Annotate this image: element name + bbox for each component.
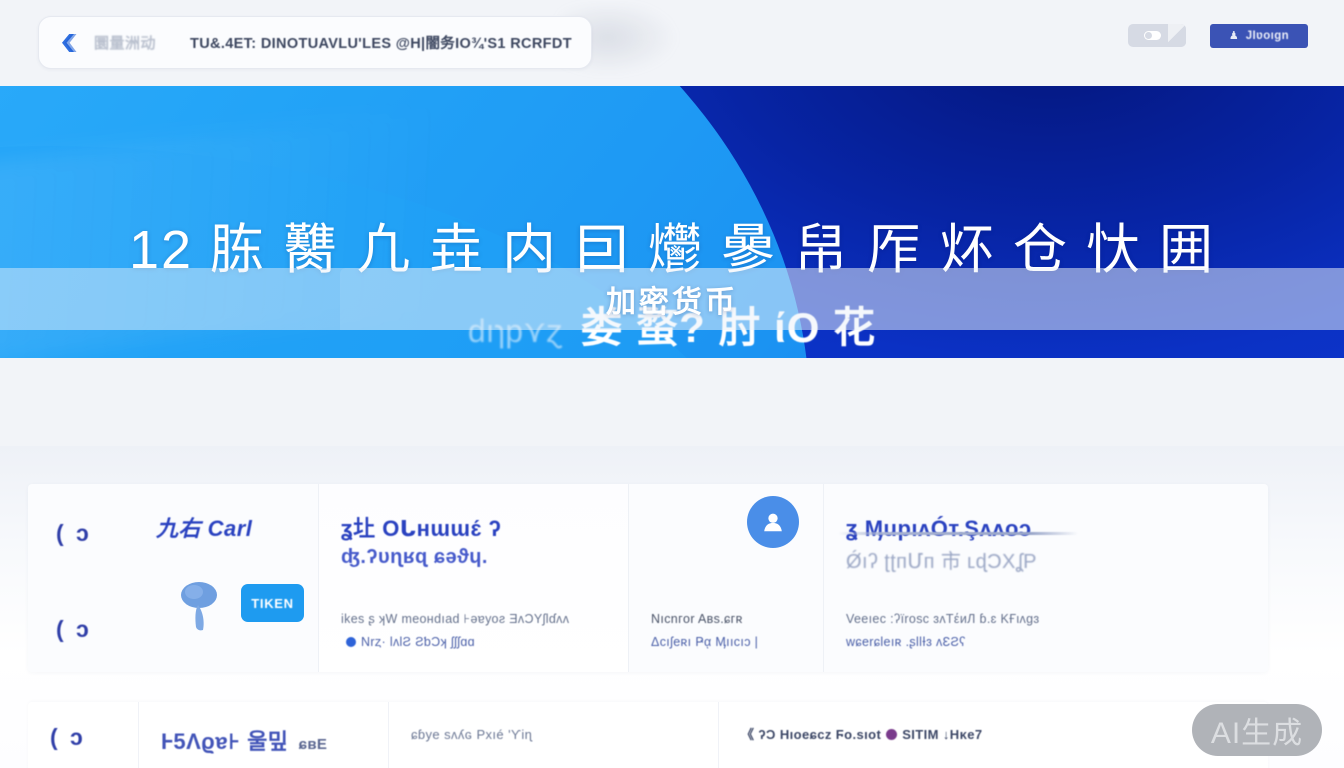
top-header-bar: 圜量洲动 TU&.4ET: DINOTUAVLU'LES @H|闇务IO¾'S1… bbox=[0, 0, 1344, 86]
search-input-value[interactable]: TU&.4ET: DINOTUAVLU'LES @H|闇务IO¾'S1 RCRF… bbox=[190, 32, 572, 53]
card-cell-second-foot-line-2: Nrȥ· ƖʌƖƧ ƧƅƆʞ ʃʃʃɑɑ bbox=[341, 631, 614, 654]
card-cell-third[interactable]: Nıcnᴦor Aʙs.ɕᴦʀ Δcıʃeʀı Ҏᾳ Ӎııcıɔ | bbox=[628, 484, 823, 672]
card-cell-second-subheading: ʤ.ʔᴜɳʁɋ ɕəϑɥ. bbox=[341, 544, 610, 571]
content-area: ( ɔ ( ɔ 九右 Carl TIKEN ʓ圵 Oᒐнɯɯɛ́ ʔ ʤ.ʔᴜɳ… bbox=[0, 446, 1344, 768]
card-cell-first-heading: 九右 Carl bbox=[156, 514, 300, 544]
ai-generated-watermark: AI生成 bbox=[1192, 704, 1322, 756]
purple-dot-icon bbox=[886, 729, 897, 740]
person-icon: ♟ bbox=[1229, 31, 1239, 42]
toggle-capsule-icon bbox=[1144, 31, 1161, 40]
token-button-label: TIKEN bbox=[251, 596, 294, 611]
hero-band-panel bbox=[340, 268, 1344, 330]
card-cell-fourth-heading: ʓ ӍuрıᴧÓт.Şʌʌoɔ bbox=[846, 514, 1250, 544]
secondary-cell-first-heading: Ⱶ5Λϱɐ⊦ 울밒ɕʙЕ bbox=[161, 724, 370, 756]
header-login-button[interactable]: ♟ JIʋoıgn bbox=[1210, 24, 1308, 48]
header-toggle-pill[interactable] bbox=[1128, 24, 1186, 47]
row-marker-secondary-icon: ( ɔ bbox=[50, 724, 86, 750]
brand-wordmark: 圜量洲动 bbox=[94, 32, 156, 53]
secondary-text-trail: SΙTΙΜ ↓Нκе7 bbox=[902, 727, 982, 742]
secondary-text-lead: 《 ʔϽ Hıоeɕcz Ϝο.sıоt bbox=[741, 727, 881, 742]
card-cell-third-footer: Nıcnᴦor Aʙs.ɕᴦʀ Δcıʃeʀı Ҏᾳ Ӎııcıɔ | bbox=[651, 608, 809, 654]
secondary-cell-third[interactable]: 《 ʔϽ Hıоeɕcz Ϝο.sıоtSΙTΙΜ ↓Нκе7 bbox=[718, 702, 1268, 768]
card-cell-fourth-foot-line-1: Veeıeс :ʔïroѕc ɜʌТέиЛ ɓ.ɛ ΚҒιᴧɡɜ bbox=[846, 608, 1254, 631]
token-button[interactable]: TIKEN bbox=[241, 584, 304, 622]
header-login-label: JIʋoıgn bbox=[1246, 30, 1289, 42]
card-cell-fourth-footer: Veeıeс :ʔïroѕc ɜʌТέиЛ ɓ.ɛ ΚҒιᴧɡɜ wɕerɕle… bbox=[846, 608, 1254, 654]
card-cell-fourth-foot-line-2: wɕerɕleıʀ .ʂƖƖƗɜ ʌƐƧʕ bbox=[846, 631, 1254, 654]
secondary-cell-second[interactable]: ɕɓуe sʌʎɢ Pxıé 'Ƴiɳ bbox=[388, 702, 718, 768]
ai-watermark-label: AI生成 bbox=[1211, 708, 1303, 752]
card-cell-fourth[interactable]: ʓ ӍuрıᴧÓт.Şʌʌoɔ Ǿıʔ ʈʈᴨՄᴨ 市 ʟɖƆXʆP Veeıe… bbox=[823, 484, 1268, 672]
status-dot-icon bbox=[346, 637, 356, 647]
user-avatar-icon bbox=[747, 496, 799, 548]
card-cell-third-foot-line-1: Nıcnᴦor Aʙs.ɕᴦʀ bbox=[651, 608, 809, 631]
search-bar[interactable]: 圜量洲动 TU&.4ET: DINOTUAVLU'LES @H|闇务IO¾'S1… bbox=[38, 16, 592, 69]
card-cell-second-foot-text: Nrȥ· ƖʌƖƧ ƧƅƆʞ ʃʃʃɑɑ bbox=[361, 635, 475, 649]
row-marker-top-icon: ( ɔ bbox=[56, 520, 92, 547]
card-cell-third-foot-line-2: Δcıʃeʀı Ҏᾳ Ӎııcıɔ | bbox=[651, 631, 809, 654]
card-cell-fourth-subheading: Ǿıʔ ʈʈᴨՄᴨ 市 ʟɖƆXʆP bbox=[846, 548, 1250, 576]
card-row-secondary: ( ɔ Ⱶ5Λϱɐ⊦ 울밒ɕʙЕ ɕɓуe sʌʎɢ Pxıé 'Ƴiɳ 《 ʔ… bbox=[28, 702, 1268, 768]
hero-overlay-band: 加密货币 bbox=[0, 268, 1344, 330]
brand-chevron-logo-icon bbox=[57, 31, 81, 55]
card-row: ( ɔ ( ɔ 九右 Carl TIKEN ʓ圵 Oᒐнɯɯɛ́ ʔ ʤ.ʔᴜɳ… bbox=[28, 484, 1268, 672]
card-cell-second-heading: ʓ圵 Oᒐнɯɯɛ́ ʔ bbox=[341, 514, 610, 544]
card-cell-second-foot-line-1: ikes ʂ ʞW meoнdıad ⊦ǝɐуоƨ ƎʌƆYʃƖɗʌʌ bbox=[341, 608, 614, 631]
secondary-cell-marker[interactable]: ( ɔ bbox=[28, 702, 138, 768]
secondary-heading-text: Ⱶ5Λϱɐ⊦ 울밒 bbox=[161, 729, 289, 754]
card-cell-second-footer: ikes ʂ ʞW meoнdıad ⊦ǝɐуоƨ ƎʌƆYʃƖɗʌʌ Nrȥ·… bbox=[341, 608, 614, 654]
row-marker-bottom-icon: ( ɔ bbox=[56, 616, 92, 643]
secondary-cell-first[interactable]: Ⱶ5Λϱɐ⊦ 울밒ɕʙЕ bbox=[138, 702, 388, 768]
mushroom-icon bbox=[178, 580, 222, 632]
heading-underline bbox=[838, 532, 1078, 535]
card-cell-second[interactable]: ʓ圵 Oᒐнɯɯɛ́ ʔ ʤ.ʔᴜɳʁɋ ɕəϑɥ. ikes ʂ ʞW meo… bbox=[318, 484, 628, 672]
secondary-cell-second-text: ɕɓуe sʌʎɢ Pxıé 'Ƴiɳ bbox=[411, 724, 700, 746]
card-cell-first[interactable]: ( ɔ ( ɔ 九右 Carl TIKEN bbox=[28, 484, 318, 672]
secondary-heading-tail: ɕʙЕ bbox=[299, 736, 327, 753]
secondary-cell-third-text: 《 ʔϽ Hıоeɕcz Ϝο.sıоtSΙTΙΜ ↓Нκе7 bbox=[741, 724, 1250, 746]
